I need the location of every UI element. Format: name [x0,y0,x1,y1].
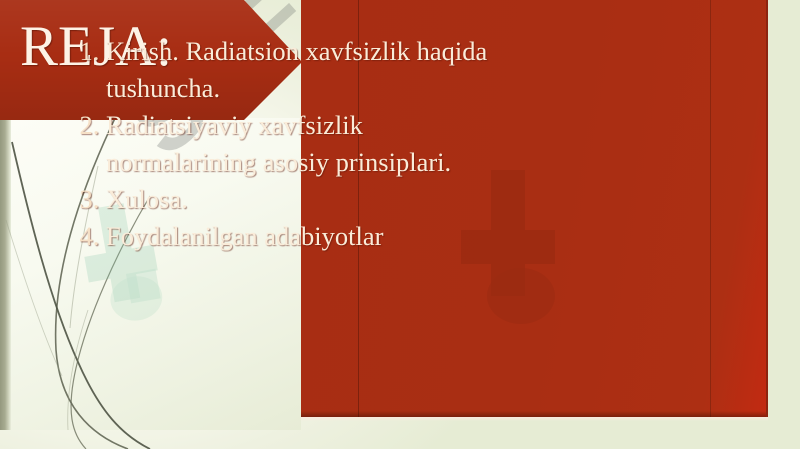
presentation-slide: SOFF REJA: Kirish. Radiatsion xavfsizlik… [0,0,800,449]
background-left-strip [0,112,11,430]
list-item: Kirish. Radiatsion xavfsizlik haqida tus… [106,33,501,107]
plan-list: Kirish. Radiatsion xavfsizlik haqida tus… [62,33,501,255]
list-item: Foydalanilgan adabiyotlar [106,218,501,255]
panel-divider-right [710,0,711,417]
list-item: Xulosa. [106,181,501,218]
panel-under-highlight [301,417,768,421]
list-item: Radiatsiyaviy xavfsizlik normalarining a… [106,107,501,181]
